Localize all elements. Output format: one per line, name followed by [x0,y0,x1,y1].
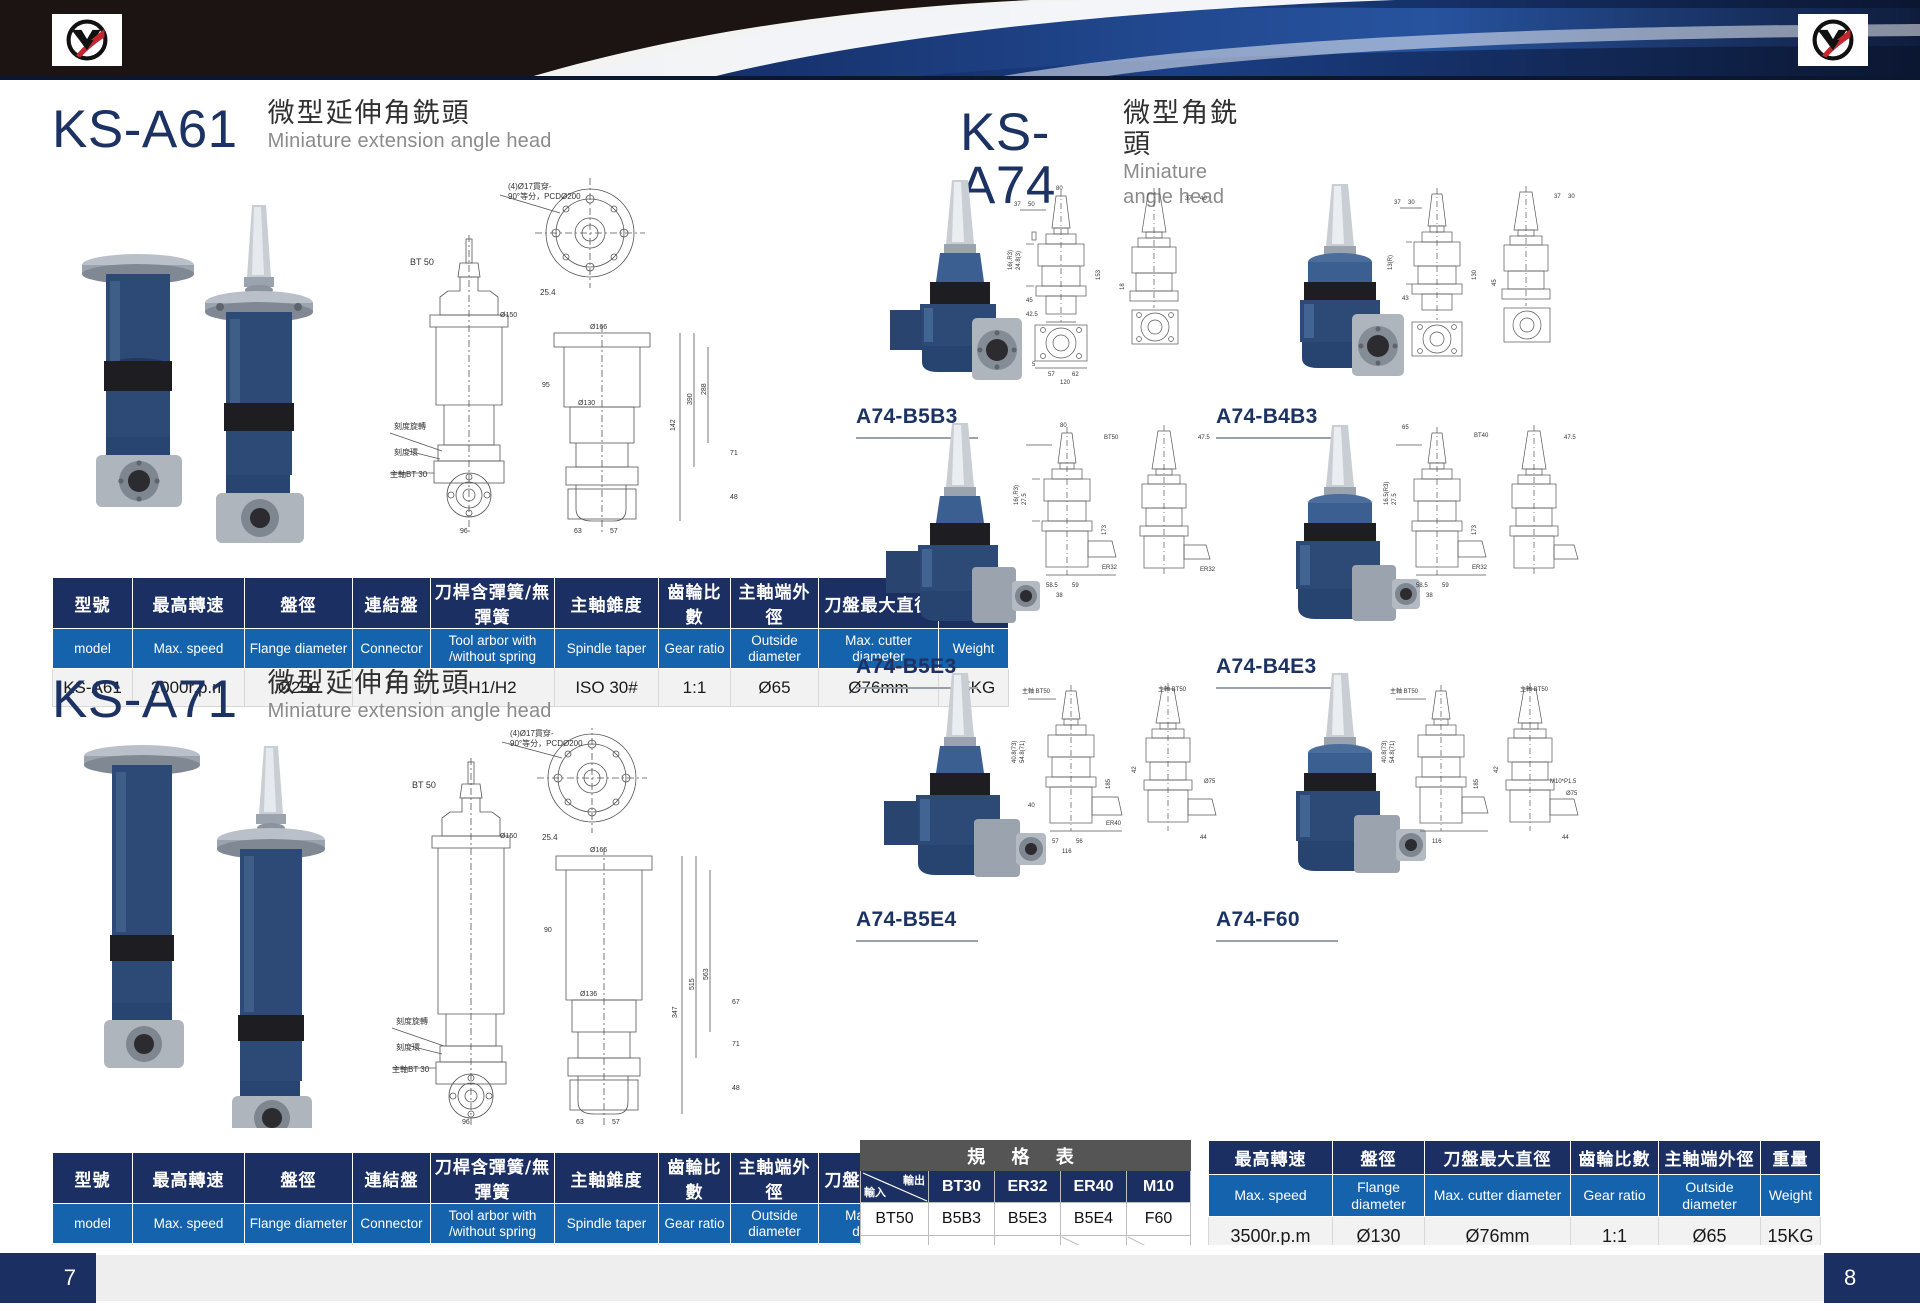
footer-bar-right [960,1255,1824,1301]
col-header-cn-outside: 主軸端外徑 [731,1153,819,1204]
technical-drawing [1028,683,1216,831]
drawing-note: 44 [1562,835,1569,841]
matrix-title-row: 規 格 表 [861,1141,1191,1171]
drawing-note: 刻度旋轉 [394,421,426,431]
product-artwork-a74-f60: 主軸 BT50 40.8(73) 54.8(71) 185 116 主軸 BT5… [1220,663,1580,903]
drawing-note: 25.4 [540,288,556,297]
drawing-note: 40 [1028,803,1035,809]
matrix-row-bt50: BT50 B5B3 B5E3 B5E4 F60 [861,1203,1191,1236]
drawing-note: (4)Ø17貫穿- [508,181,552,191]
technical-drawing [1396,683,1578,831]
drawing-note: 18 [1120,283,1126,290]
page-footer: 7 8 [0,1245,1920,1311]
drawing-note: 刻度環 [396,1042,420,1052]
col-header-en-max-speed: Max. speed [1209,1175,1333,1217]
product-artwork-a74-b4b3: 37 30 13(R) 43 130 37 30 45 [1220,170,1580,400]
drawing-note: 71 [730,450,738,457]
drawing-note: 主軸 BT50 [1022,687,1051,695]
drawing-note: 48 [732,1085,740,1092]
drawing-note: 116 [1432,839,1442,845]
col-header-cn-max-cutter: 刀盤最大直徑 [1425,1141,1571,1175]
drawing-note: 16(.R3) [1014,485,1020,505]
drawing-note: 16.5(R3) [1384,482,1390,505]
col-header-en-max-speed: Max. speed [133,1204,245,1244]
drawing-note: 主軸 BT50 [1520,685,1549,693]
col-header-en-outside: Outside diameter [731,629,819,669]
footer-bar-left [96,1255,960,1301]
drawing-note: BT 50 [410,257,434,267]
drawing-note: 27.5 [1022,493,1028,505]
matrix-corner-output: 輸出 [903,1172,925,1188]
brand-logo-right [1798,14,1868,66]
drawing-note: 37 [1185,196,1192,202]
matrix-col-header-m10: M10 [1127,1171,1191,1203]
banner-swoosh-graphic [0,0,1920,80]
product-artwork-a74-b5e4: 主軸 BT50 40.8(73) 54.8(71) 40 185 ER40 57… [860,663,1220,903]
product-photo-a61-2 [205,205,313,543]
col-header-en-max-speed: Max. speed [133,629,245,669]
drawing-note: 142 [670,419,677,431]
left-page: KS-A61 微型延伸角銑頭 Miniature extension angle… [0,80,960,1245]
col-header-cn-flange: 盤徑 [245,1153,353,1204]
drawing-note: 67 [732,999,740,1006]
drawing-note: 30 [1408,200,1415,206]
product-photo [1300,184,1404,376]
product-photo-a71-1 [84,745,200,1068]
col-header-cn-spindle: 主軸錐度 [555,578,659,629]
product-cell-a74-b4b3: 37 30 13(R) 43 130 37 30 45 A74-B4B3 [1220,170,1580,410]
product-label: A74-F60 [1216,908,1300,937]
drawing-note: 56 [1076,839,1083,845]
drawing-note: 48 [730,494,738,501]
drawing-note: 65 [1402,425,1409,431]
col-header-en-connector: Connector [353,629,431,669]
drawing-note: 54.8(71) [1390,741,1396,763]
col-header-en-connector: Connector [353,1204,431,1244]
drawing-note: 47.5 [1198,435,1210,441]
ks-brand-logo-icon [64,17,110,63]
drawing-note: Ø75 [1566,791,1578,797]
drawing-note: 80 [1060,423,1067,429]
drawing-note: 45 [1492,279,1498,286]
col-header-cn-max-speed: 最高轉速 [1209,1141,1333,1175]
col-header-en-gear: Gear ratio [1571,1175,1659,1217]
drawing-note: ER32 [1102,565,1118,571]
drawing-note: 120 [1060,380,1071,386]
table-header-row-cn: 最高轉速 盤徑 刀盤最大直徑 齒輪比數 主軸端外徑 重量 [1209,1141,1821,1175]
product-label: A74-B5E4 [856,908,956,937]
drawing-note: Ø75 [1204,779,1216,785]
product-photo [1296,673,1426,873]
drawing-note: 288 [701,383,708,395]
drawing-note: 54.8(71) [1020,741,1026,763]
cell-gear: 1:1 [659,669,731,707]
technical-drawing [1396,425,1578,577]
catalog-spread: KS-A61 微型延伸角銑頭 Miniature extension angle… [0,80,1920,1245]
col-header-cn-flange: 盤徑 [245,578,353,629]
drawing-note: ER40 [1106,821,1122,827]
col-header-en-flange: Flange diameter [245,1204,353,1244]
col-header-en-outside: Outside diameter [731,1204,819,1244]
col-header-cn-model: 型號 [53,578,133,629]
col-header-cn-outside: 主軸端外徑 [1659,1141,1761,1175]
drawing-note: 153 [1096,269,1102,280]
col-header-en-gear: Gear ratio [659,1204,731,1244]
col-header-en-gear: Gear ratio [659,629,731,669]
col-header-en-flange: Flange diameter [245,629,353,669]
drawing-note: 44 [1200,835,1207,841]
col-header-cn-max-speed: 最高轉速 [133,578,245,629]
matrix-col-header-er32: ER32 [995,1171,1061,1203]
page-number-right: 8 [1824,1253,1920,1303]
section-title-ks-a61: KS-A61 微型延伸角銑頭 Miniature extension angle… [52,98,552,156]
drawing-note: 24.8(3) [1016,251,1022,270]
drawing-note: 27.5 [1392,493,1398,505]
drawing-note: 42 [1132,766,1138,773]
drawing-note: 16(.R3) [1008,250,1014,270]
drawing-note: 30 [1568,194,1575,200]
drawing-note: 主軸 BT50 [1158,685,1187,693]
section-title-cn: 微型延伸角銑頭 [268,98,552,129]
product-cell-a74-b5b3: 37 50 80 16(.R3) 24.8(3) 45 42.5 5 57 62… [860,170,1220,410]
col-header-cn-weight: 重量 [1761,1141,1821,1175]
col-header-cn-gear: 齒輪比數 [1571,1141,1659,1175]
col-header-cn-spindle: 主軸錐度 [555,1153,659,1204]
drawing-note: 38 [1426,593,1433,599]
product-artwork-a74-b4e3: BT40 65 16.5(R3) 27.5 173 ER32 58.5 59 3… [1220,415,1580,650]
matrix-header-row: 輸入 輸出 BT30 ER32 ER40 M10 [861,1171,1191,1203]
col-header-en-flange: Flange diameter [1333,1175,1425,1217]
drawing-note: M10*P1.5 [1550,779,1577,785]
product-label-underline [1216,940,1338,942]
drawing-note: 刻度旋轉 [396,1016,428,1026]
drawing-note: 59 [1442,583,1449,589]
product-photo-a71-2 [217,746,325,1128]
section-title-en: Miniature extension angle head [268,699,552,724]
spec-table-ks-a74: 最高轉速 盤徑 刀盤最大直徑 齒輪比數 主軸端外徑 重量 Max. speed … [1208,1140,1821,1257]
drawing-note: 42.5 [1026,312,1038,318]
drawing-note: 96 [460,528,468,535]
drawing-note: 173 [1102,524,1108,535]
drawing-note: BT 50 [412,780,436,790]
col-header-cn-flange: 盤徑 [1333,1141,1425,1175]
col-header-cn-outside: 主軸端外徑 [731,578,819,629]
drawing-note: ER32 [1472,565,1488,571]
col-header-cn-connector: 連結盤 [353,578,431,629]
drawing-note: 主軸BT 30 [390,469,428,479]
drawing-note: 95 [542,382,550,389]
col-header-en-model: model [53,1204,133,1244]
drawing-note: 63 [576,1119,584,1126]
drawing-note: 116 [1062,849,1072,855]
section-title-en: Miniature extension angle head [268,129,552,154]
matrix-cell: B5B3 [929,1203,995,1236]
drawing-note: 90°等分，PCDØ200 [510,738,583,748]
drawing-note: 130 [1472,269,1478,280]
product-artwork-a74-b5b3: 37 50 80 16(.R3) 24.8(3) 45 42.5 5 57 62… [860,170,1220,400]
product-photo [884,673,1046,877]
col-header-cn-gear: 齒輪比數 [659,578,731,629]
ks-a71-product-artwork: (4)Ø17貫穿- 90°等分，PCDØ200 25.4 [30,728,760,1128]
col-header-cn-model: 型號 [53,1153,133,1204]
drawing-note: ER32 [1200,567,1216,573]
drawing-note: 185 [1106,778,1112,789]
drawing-note: 40.8(73) [1012,741,1018,763]
section-code: KS-A71 [52,673,238,726]
drawing-note: 58.5 [1046,583,1058,589]
drawing-note: 58.5 [1416,583,1428,589]
col-header-en-spindle: Spindle taper [555,629,659,669]
drawing-note: 37 [1014,202,1021,208]
drawing-note: Ø136 [580,991,597,998]
matrix-corner-cell: 輸入 輸出 [861,1171,929,1203]
cell-outside: Ø65 [731,669,819,707]
technical-drawing [1026,425,1210,577]
product-cell-a74-b5e3: 80 BT50 16(.R3) 27.5 173 ER32 58.5 59 38… [860,415,1220,660]
drawing-note: 40 [1200,196,1207,202]
col-header-cn-tool-arbor: 刀桿含彈簧/無彈簧 [431,1153,555,1204]
drawing-note: 62 [1072,372,1079,378]
section-title-cn: 微型延伸角銑頭 [268,668,552,699]
table-header-row-en: Max. speed Flange diameter Max. cutter d… [1209,1175,1821,1217]
col-header-cn-gear: 齒輪比數 [659,1153,731,1204]
col-header-en-model: model [53,629,133,669]
drawing-note: 40.8(73) [1382,741,1388,763]
drawing-note: 刻度環 [394,447,418,457]
drawing-note: BT40 [1474,433,1489,439]
drawing-note: 59 [1072,583,1079,589]
product-photo [890,180,1022,380]
col-header-en-max-cutter: Max. cutter diameter [1425,1175,1571,1217]
drawing-note: 50 [1028,202,1035,208]
product-cell-a74-f60: 主軸 BT50 40.8(73) 54.8(71) 185 116 主軸 BT5… [1220,663,1580,913]
ks-brand-logo-icon [1810,17,1856,63]
section-code: KS-A61 [52,103,238,156]
drawing-note: 515 [689,978,696,990]
drawing-note: 57 [1052,839,1059,845]
col-header-cn-max-speed: 最高轉速 [133,1153,245,1204]
drawing-note: 185 [1474,778,1480,789]
right-page: KS-A74 微型角銑頭 Miniature angle head [960,80,1920,1245]
drawing-note: 390 [687,393,694,405]
drawing-note: 42 [1494,766,1500,773]
drawing-note: Ø150 [500,312,517,319]
col-header-en-weight: Weight [1761,1175,1821,1217]
col-header-en-spindle: Spindle taper [555,1204,659,1244]
drawing-note: 80 [1056,186,1063,192]
drawing-note: 主軸BT 30 [392,1064,430,1074]
drawing-note: 57 [610,528,618,535]
drawing-note: 主軸 BT50 [1390,687,1419,695]
drawing-note: 173 [1472,524,1478,535]
col-header-cn-connector: 連結盤 [353,1153,431,1204]
drawing-note: 90 [544,927,552,934]
matrix-cell: F60 [1127,1203,1191,1236]
product-cell-a74-b5e4: 主軸 BT50 40.8(73) 54.8(71) 40 185 ER40 57… [860,663,1220,913]
matrix-corner-input: 輸入 [864,1184,886,1200]
product-cell-a74-b4e3: BT40 65 16.5(R3) 27.5 173 ER32 58.5 59 3… [1220,415,1580,660]
product-label-underline [856,940,978,942]
drawing-note: 38 [1056,593,1063,599]
drawing-note: 71 [732,1041,740,1048]
drawing-note: 37 [1394,200,1401,206]
matrix-cell: B5E4 [1061,1203,1127,1236]
technical-drawing-elevation [556,848,710,1126]
product-photo-a61-1 [82,254,194,507]
col-header-en-tool-arbor: Tool arbor with /without spring [431,1204,555,1244]
drawing-note: 43 [1402,296,1409,302]
product-photo [1296,425,1420,621]
drawing-note: 37 [1554,194,1561,200]
drawing-note: Ø150 [500,833,517,840]
drawing-note: 45 [1026,298,1033,304]
drawing-note: 96 [462,1119,470,1126]
matrix-title: 規 格 表 [861,1141,1191,1171]
drawing-note: 13(R) [1388,255,1394,270]
drawing-note: 5 [1032,362,1036,368]
drawing-note: Ø166 [590,847,607,854]
top-banner [0,0,1920,80]
drawing-note: 347 [672,1006,679,1018]
ks-a61-product-artwork: (4)Ø17貫穿- 90°等分，PCDØ200 25.4 [30,155,760,545]
product-artwork-a74-b5e3: 80 BT50 16(.R3) 27.5 173 ER32 58.5 59 38… [860,415,1220,650]
drawing-note: Ø130 [578,400,595,407]
matrix-col-header-er40: ER40 [1061,1171,1127,1203]
drawing-note: 63 [574,528,582,535]
section-title-cn: 微型角銑頭 [1123,98,1260,160]
col-header-en-tool-arbor: Tool arbor with /without spring [431,629,555,669]
technical-drawing-elevation [554,325,708,535]
drawing-note: 57 [612,1119,620,1126]
matrix-cell: B5E3 [995,1203,1061,1236]
matrix-col-header-bt30: BT30 [929,1171,995,1203]
drawing-note: (4)Ø17貫穿- [510,728,554,738]
drawing-note: 90°等分，PCDØ200 [508,191,581,201]
drawing-note: 57 [1048,372,1055,378]
drawing-note: 47.5 [1564,435,1576,441]
drawing-note: BT50 [1104,435,1119,441]
technical-drawing-section [390,235,508,535]
drawing-note: 25.4 [542,833,558,842]
drawing-note: 563 [703,968,710,980]
section-title-ks-a71: KS-A71 微型延伸角銑頭 Miniature extension angle… [52,668,552,726]
product-photo [886,423,1040,623]
matrix-row-header: BT50 [861,1203,929,1236]
drawing-note: Ø166 [590,324,607,331]
col-header-cn-tool-arbor: 刀桿含彈簧/無彈簧 [431,578,555,629]
page-number-left: 7 [0,1253,96,1303]
brand-logo-left [52,14,122,66]
col-header-en-outside: Outside diameter [1659,1175,1761,1217]
cell-spindle: ISO 30# [555,669,659,707]
